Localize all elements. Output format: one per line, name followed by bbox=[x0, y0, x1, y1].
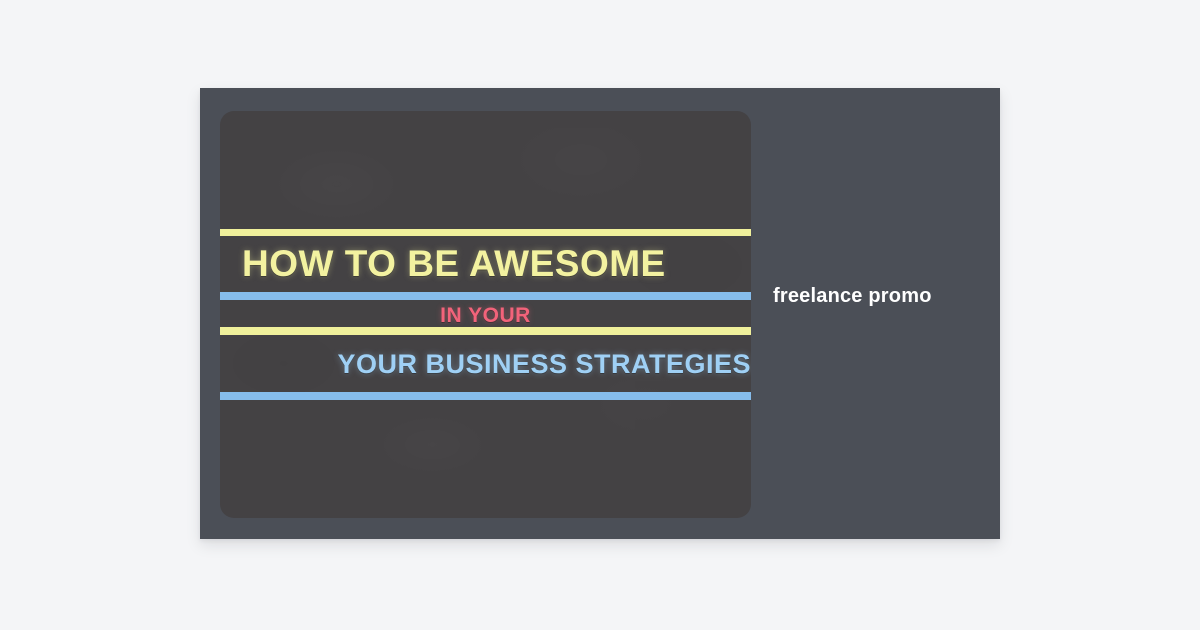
divider-rule-middle-yellow bbox=[220, 327, 751, 335]
preview-caption: freelance promo bbox=[773, 285, 932, 308]
divider-rule-top-yellow bbox=[220, 229, 751, 236]
headline-sub: YOUR BUSINESS STRATEGIES bbox=[220, 349, 751, 380]
video-thumbnail-card[interactable]: HOW TO BE AWESOME IN YOUR YOUR BUSINESS … bbox=[220, 111, 751, 518]
divider-rule-middle-blue bbox=[220, 292, 751, 300]
headline-middle: IN YOUR bbox=[220, 304, 751, 328]
video-preview-panel[interactable]: HOW TO BE AWESOME IN YOUR YOUR BUSINESS … bbox=[200, 88, 1000, 539]
headline-main: HOW TO BE AWESOME bbox=[220, 243, 751, 285]
divider-rule-bottom-blue bbox=[220, 392, 751, 400]
